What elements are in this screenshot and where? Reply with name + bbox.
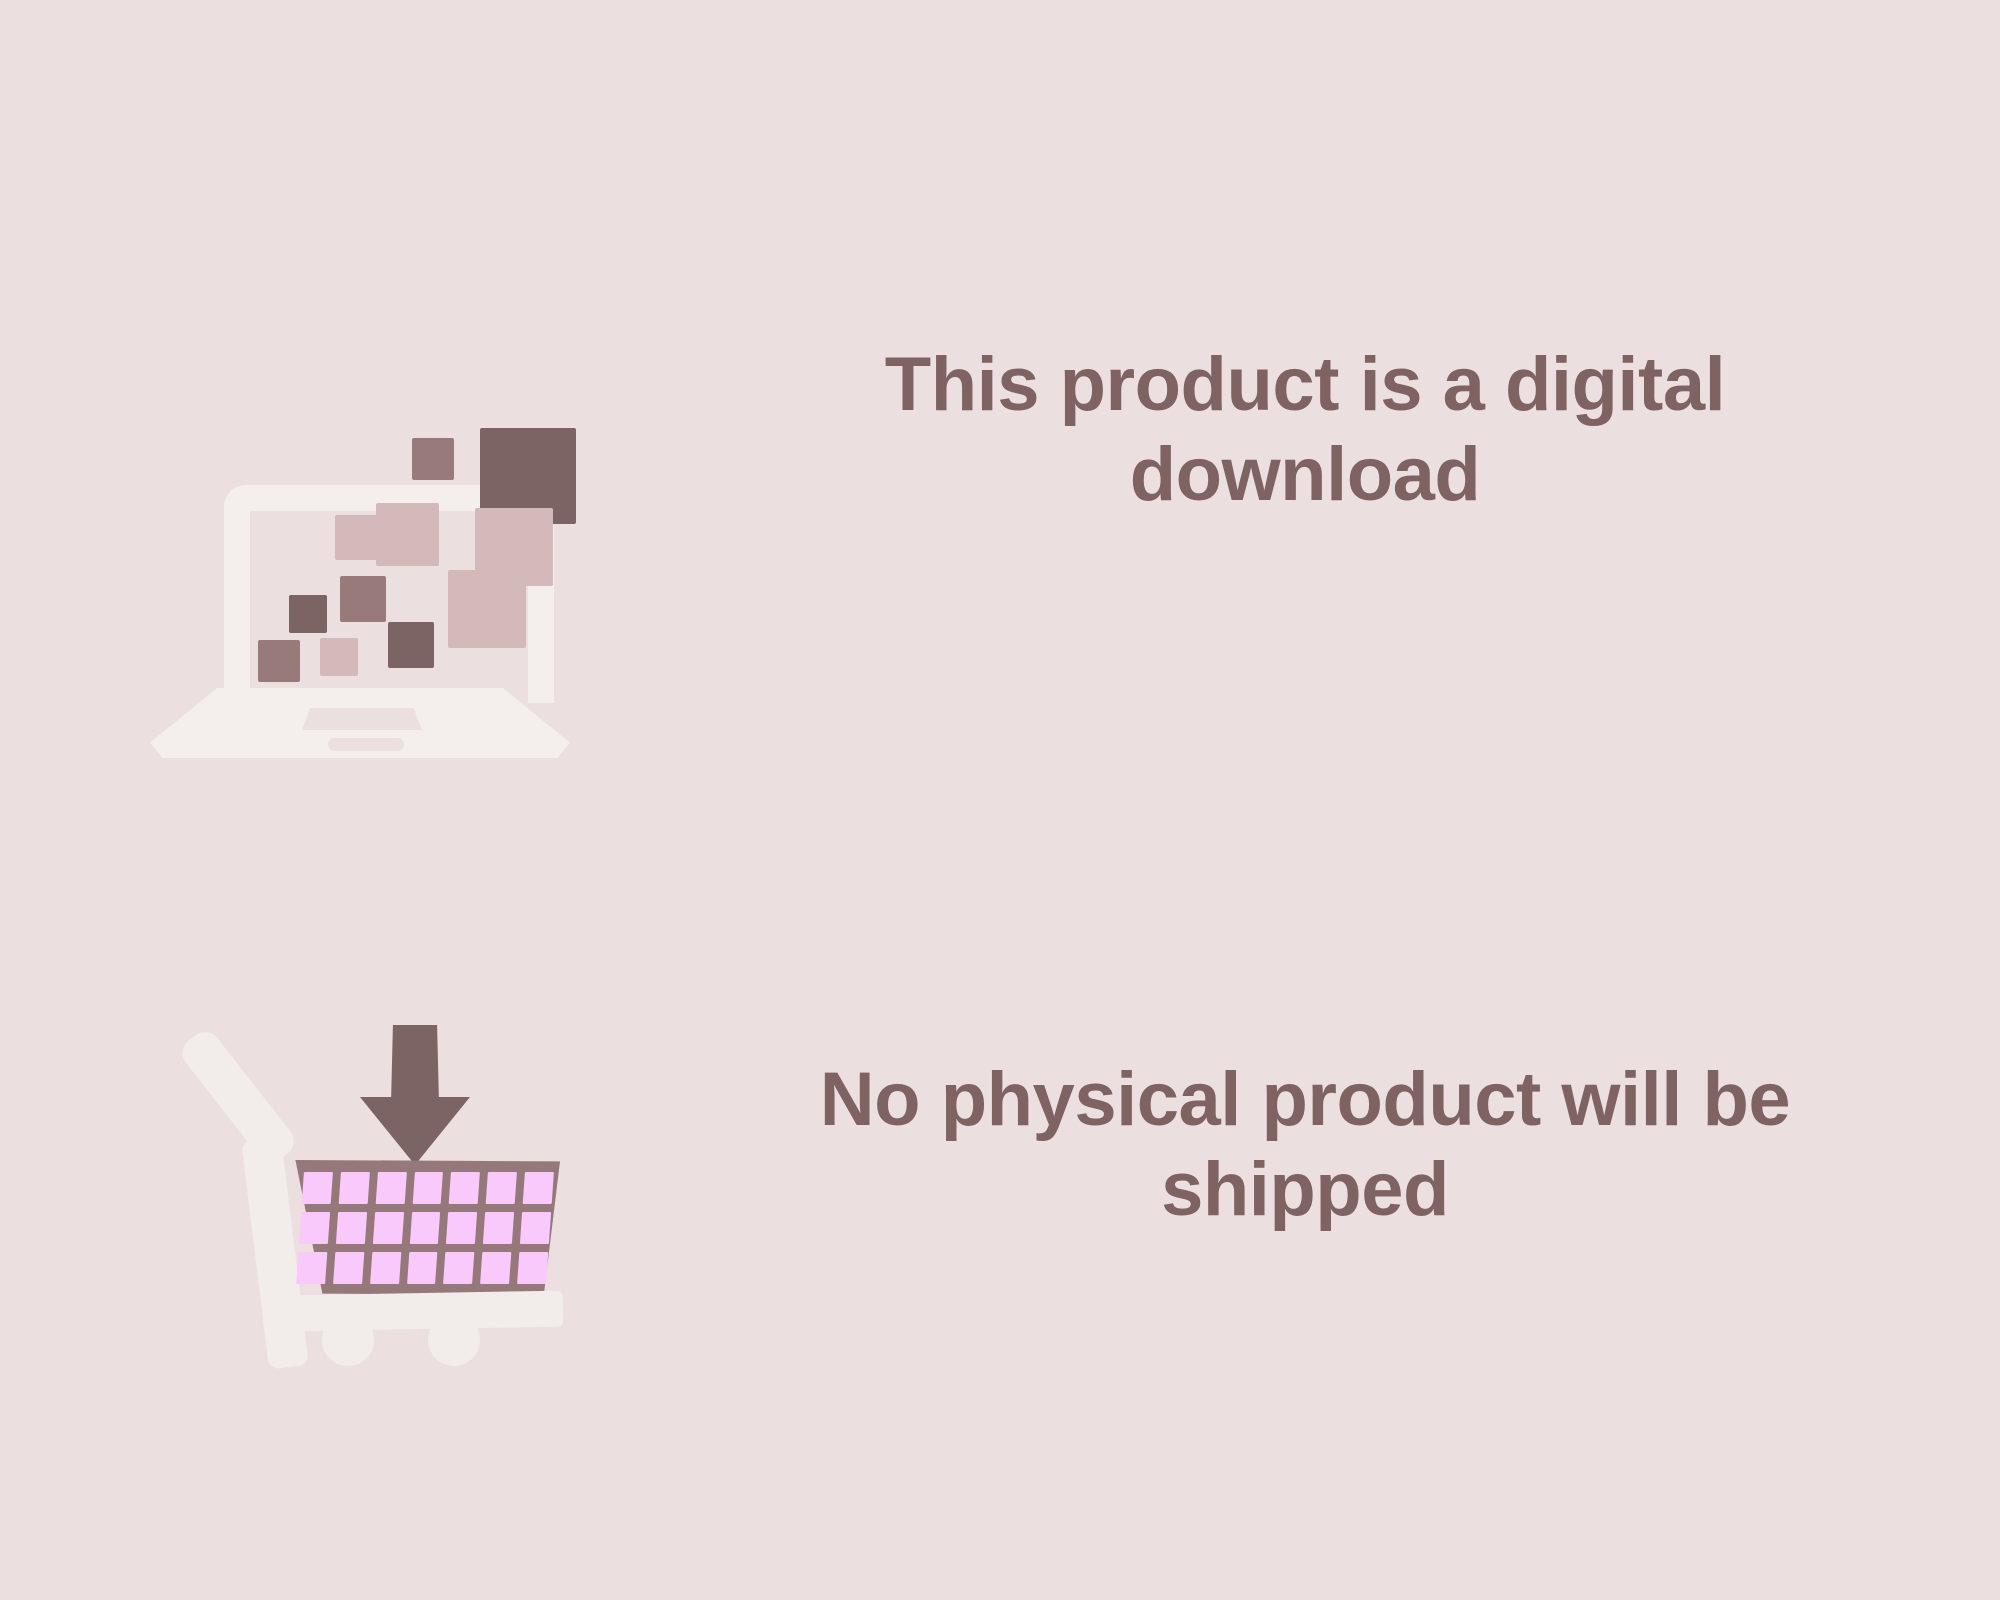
digital-download-text-cell: This product is a digital download (760, 340, 2000, 519)
cart-basket-cell (523, 1172, 554, 1204)
cart-basket-cell (375, 1172, 406, 1204)
pixel-square-7 (448, 570, 526, 648)
cart-basket-cell (486, 1172, 517, 1204)
laptop-trackpad (302, 708, 422, 730)
pixel-square-9 (388, 622, 434, 668)
shopping-cart-icon (160, 910, 620, 1370)
pixel-square-8 (289, 595, 327, 633)
no-physical-shipping-text-cell: No physical product will be shipped (760, 1055, 2000, 1234)
cart-basket-cell (407, 1252, 438, 1284)
cart-basket-cell (409, 1212, 440, 1244)
cart-basket-cell (412, 1172, 443, 1204)
shipping-icon-cell (0, 930, 760, 1360)
cart-basket-cell (299, 1212, 330, 1244)
cart-basket-cell (339, 1172, 370, 1204)
cart-basket-cell (480, 1252, 511, 1284)
digital-download-icon-cell (0, 210, 760, 650)
cart-basket-cell (446, 1212, 477, 1244)
cart-basket-cell (302, 1172, 333, 1204)
cart-wheel-right (428, 1314, 480, 1366)
cart-basket-cell (336, 1212, 367, 1244)
download-arrow-icon (360, 1025, 470, 1165)
pixel-square-11 (320, 638, 358, 676)
cart-basket-cell (373, 1212, 404, 1244)
download-arrow-head (360, 1097, 470, 1165)
laptop-icon (150, 270, 570, 670)
cart-basket-cell (449, 1172, 480, 1204)
pixel-square-10 (258, 640, 300, 682)
notice-canvas: This product is a digital download No ph… (0, 0, 2000, 1600)
cart-basket-cell (296, 1252, 327, 1284)
pixel-square-1 (412, 438, 454, 480)
cart-basket-cell (483, 1212, 514, 1244)
cart-basket-cell (333, 1252, 364, 1284)
pixel-square-6 (340, 576, 386, 622)
pixel-square-3 (376, 503, 439, 566)
pixel-square-5 (335, 515, 380, 560)
cart-basket-cell (517, 1252, 548, 1284)
cart-basket-cell (520, 1212, 551, 1244)
digital-download-text: This product is a digital download (760, 340, 1850, 519)
download-arrow-shaft (391, 1025, 439, 1103)
cart-basket-cell (370, 1252, 401, 1284)
notice-row-digital-download: This product is a digital download (0, 210, 2000, 650)
cart-basket-cell (444, 1252, 475, 1284)
cart-wheel-left (322, 1314, 374, 1366)
notice-row-no-physical-shipping: No physical product will be shipped (0, 930, 2000, 1360)
laptop-front-lip (328, 738, 404, 751)
no-physical-shipping-text: No physical product will be shipped (760, 1055, 1850, 1234)
cart-basket-grid (296, 1172, 554, 1284)
